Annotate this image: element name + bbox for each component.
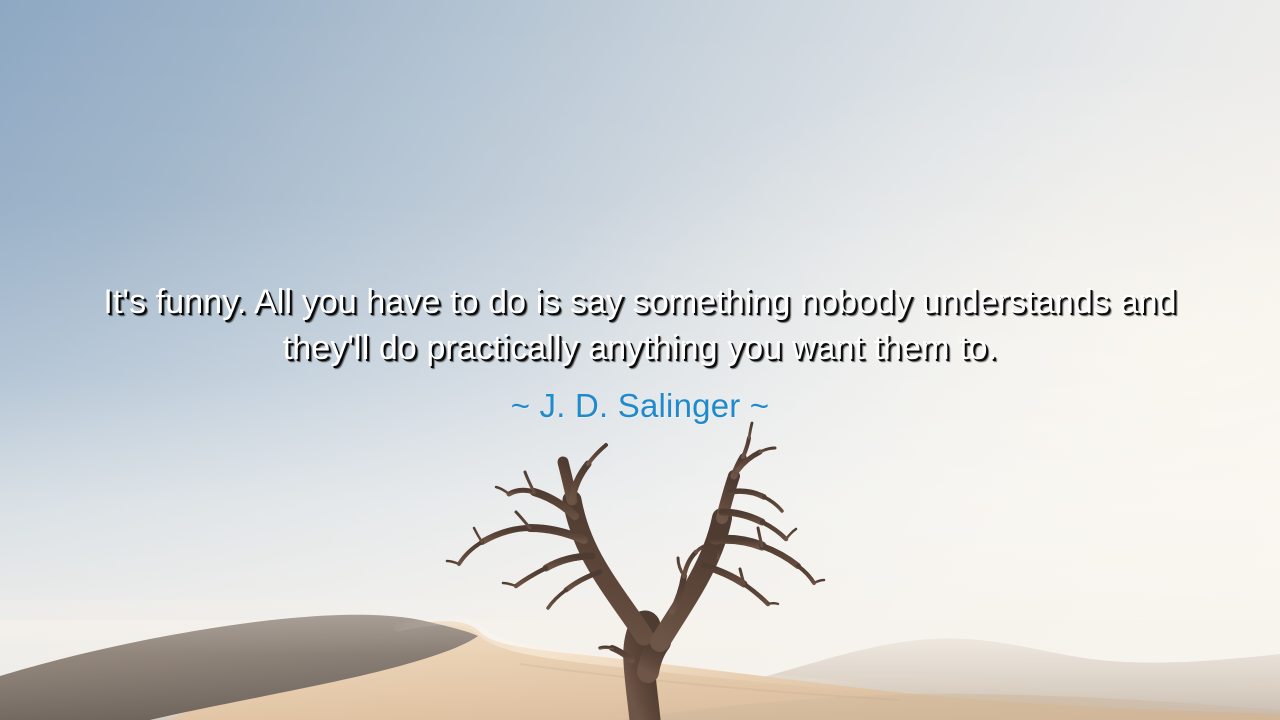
quote-image-card: It's funny. All you have to do is say so… — [0, 0, 1280, 720]
quote-body: It's funny. All you have to do is say so… — [85, 279, 1195, 371]
quote-author: ~ J. D. Salinger ~ — [511, 385, 770, 427]
quote-text-overlay: It's funny. All you have to do is say so… — [0, 0, 1280, 720]
